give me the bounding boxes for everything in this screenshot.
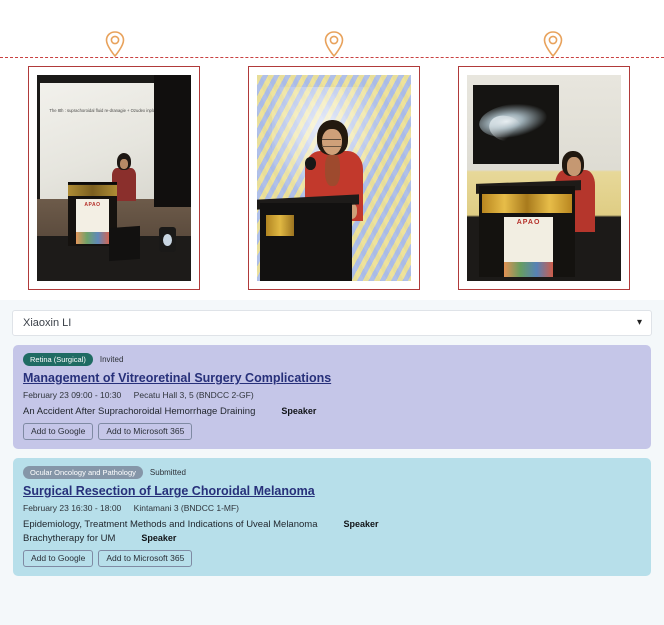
timeline-pin-row	[0, 30, 664, 60]
talk-role: Speaker	[281, 406, 316, 416]
add-to-microsoft-365-button[interactable]: Add to Microsoft 365	[98, 550, 192, 568]
session-location: Kintamani 3 (BNDCC 1-MF)	[134, 503, 239, 513]
photo-2-speaker-glasses	[322, 139, 340, 147]
talk-row: Brachytherapy for UM Speaker	[23, 533, 641, 544]
speaker-select[interactable]: Xiaoxin LI ▾	[12, 310, 652, 336]
talk-title: Epidemiology, Treatment Methods and Indi…	[23, 519, 317, 530]
session-card[interactable]: Ocular Oncology and Pathology Submitted …	[13, 458, 651, 576]
session-tag-row: Retina (Surgical) Invited	[23, 353, 641, 366]
photo-speaker-podium-slide[interactable]: The 8th : suprachoroidal fluid re-dranag…	[28, 66, 200, 290]
photo-1-loudspeaker	[109, 226, 140, 261]
photo-2-microphone	[305, 157, 316, 169]
photo-3-lectern-ornament	[482, 194, 571, 213]
speaker-select-value: Xiaoxin LI	[23, 317, 71, 329]
session-category-badge: Retina (Surgical)	[23, 353, 93, 366]
timeline-axis-line	[0, 57, 664, 58]
photo-1-podium-logo: APAO	[76, 202, 110, 212]
photo-2-lectern-ornament	[266, 215, 294, 236]
photo-3-content: APAO	[467, 75, 621, 281]
photo-1-speaker-face	[120, 159, 128, 168]
session-meta: February 23 09:00 - 10:30 Pecatu Hall 3,…	[23, 390, 641, 400]
photo-1-dark-curtain	[154, 75, 191, 207]
session-title-link[interactable]: Surgical Resection of Large Choroidal Me…	[23, 484, 315, 500]
talk-role: Speaker	[343, 519, 378, 529]
session-meta: February 23 16:30 - 18:00 Kintamani 3 (B…	[23, 503, 641, 513]
photo-speaker-patterned-backdrop[interactable]	[248, 66, 420, 290]
talk-role: Speaker	[141, 533, 176, 543]
timeline-pin-2-icon[interactable]	[323, 30, 345, 58]
session-location: Pecatu Hall 3, 5 (BNDCC 2-GF)	[134, 390, 254, 400]
session-status-badge: Submitted	[150, 468, 186, 477]
talk-row: An Accident After Suprachoroidal Hemorrh…	[23, 406, 641, 417]
sessions-panel: Xiaoxin LI ▾ Retina (Surgical) Invited M…	[0, 300, 664, 625]
timeline-pin-1-icon[interactable]	[104, 30, 126, 58]
photo-2-speaker-scarf	[325, 153, 340, 186]
photo-row: The 8th : suprachoroidal fluid re-dranag…	[0, 66, 664, 294]
talk-row: Epidemiology, Treatment Methods and Indi…	[23, 519, 641, 530]
session-tag-row: Ocular Oncology and Pathology Submitted	[23, 466, 641, 479]
talk-title: Brachytherapy for UM	[23, 533, 115, 544]
chevron-down-icon[interactable]: ▾	[637, 318, 642, 328]
photo-1-stage-light-lens	[163, 234, 172, 246]
photo-3-poster-graphic	[504, 262, 553, 276]
photo-1-lectern-ornament	[68, 185, 117, 195]
session-status-badge: Invited	[100, 355, 124, 364]
talk-title: An Accident After Suprachoroidal Hemorrh…	[23, 406, 255, 417]
calendar-button-group: Add to Google Add to Microsoft 365	[23, 423, 641, 441]
timeline-pin-3-icon[interactable]	[542, 30, 564, 58]
photo-1-content: The 8th : suprachoroidal fluid re-dranag…	[37, 75, 191, 281]
session-card[interactable]: Retina (Surgical) Invited Management of …	[13, 345, 651, 449]
photo-2-content	[257, 75, 411, 281]
session-category-badge: Ocular Oncology and Pathology	[23, 466, 143, 479]
add-to-google-button[interactable]: Add to Google	[23, 423, 93, 441]
session-datetime: February 23 09:00 - 10:30	[23, 390, 121, 400]
session-title-link[interactable]: Management of Vitreoretinal Surgery Comp…	[23, 371, 331, 387]
add-to-microsoft-365-button[interactable]: Add to Microsoft 365	[98, 423, 192, 441]
photo-1-poster-graphic	[76, 232, 110, 244]
photo-3-podium-logo: APAO	[504, 219, 553, 233]
calendar-button-group: Add to Google Add to Microsoft 365	[23, 550, 641, 568]
photo-speaker-oct-slide[interactable]: APAO	[458, 66, 630, 290]
add-to-google-button[interactable]: Add to Google	[23, 550, 93, 568]
session-datetime: February 23 16:30 - 18:00	[23, 503, 121, 513]
photo-gallery-region: The 8th : suprachoroidal fluid re-dranag…	[0, 0, 664, 300]
photo-3-speaker-face	[567, 157, 581, 176]
